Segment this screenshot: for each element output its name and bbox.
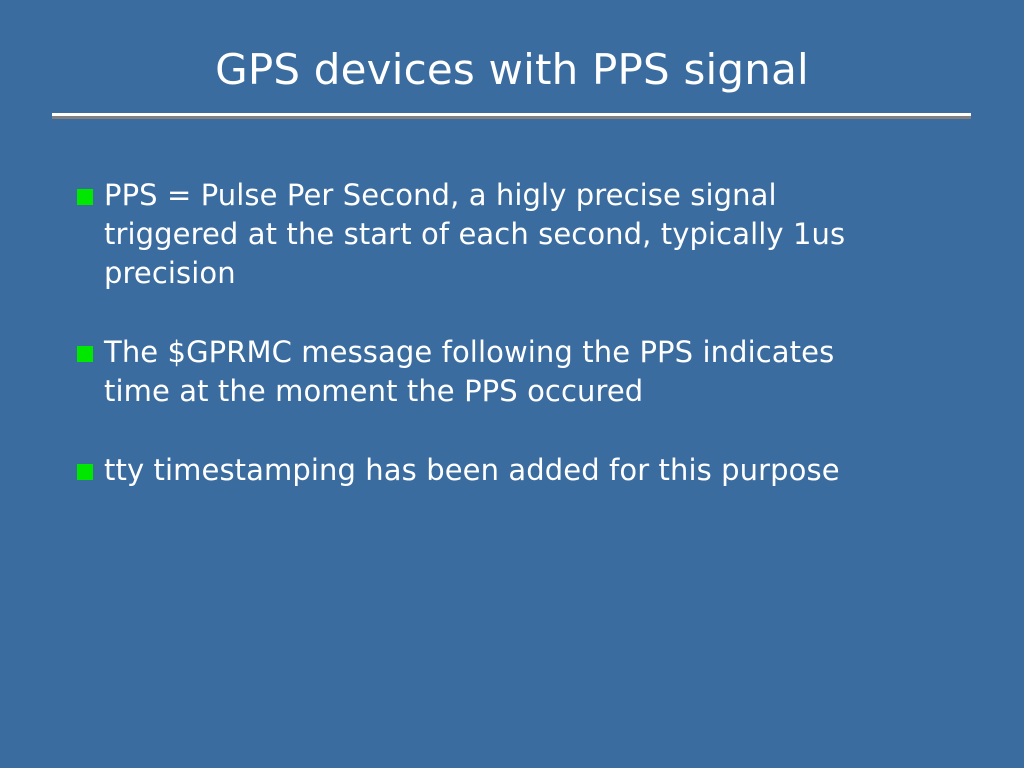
- list-item: PPS = Pulse Per Second, a higly precise …: [77, 176, 957, 293]
- title-divider: [52, 113, 971, 119]
- list-item: tty timestamping has been added for this…: [77, 451, 957, 490]
- green-square-bullet-icon: [77, 464, 93, 480]
- divider-shadow-line: [52, 116, 971, 119]
- bullet-list: PPS = Pulse Per Second, a higly precise …: [77, 176, 957, 490]
- green-square-bullet-icon: [77, 189, 93, 205]
- list-item-text: The $GPRMC message following the PPS ind…: [104, 333, 894, 411]
- list-item: The $GPRMC message following the PPS ind…: [77, 333, 957, 411]
- green-square-bullet-icon: [77, 346, 93, 362]
- list-item-text: tty timestamping has been added for this…: [104, 451, 957, 490]
- slide-title-block: GPS devices with PPS signal: [0, 44, 1024, 96]
- page-title: GPS devices with PPS signal: [0, 44, 1024, 96]
- presentation-slide: GPS devices with PPS signal PPS = Pulse …: [0, 0, 1024, 768]
- list-item-text: PPS = Pulse Per Second, a higly precise …: [104, 176, 920, 293]
